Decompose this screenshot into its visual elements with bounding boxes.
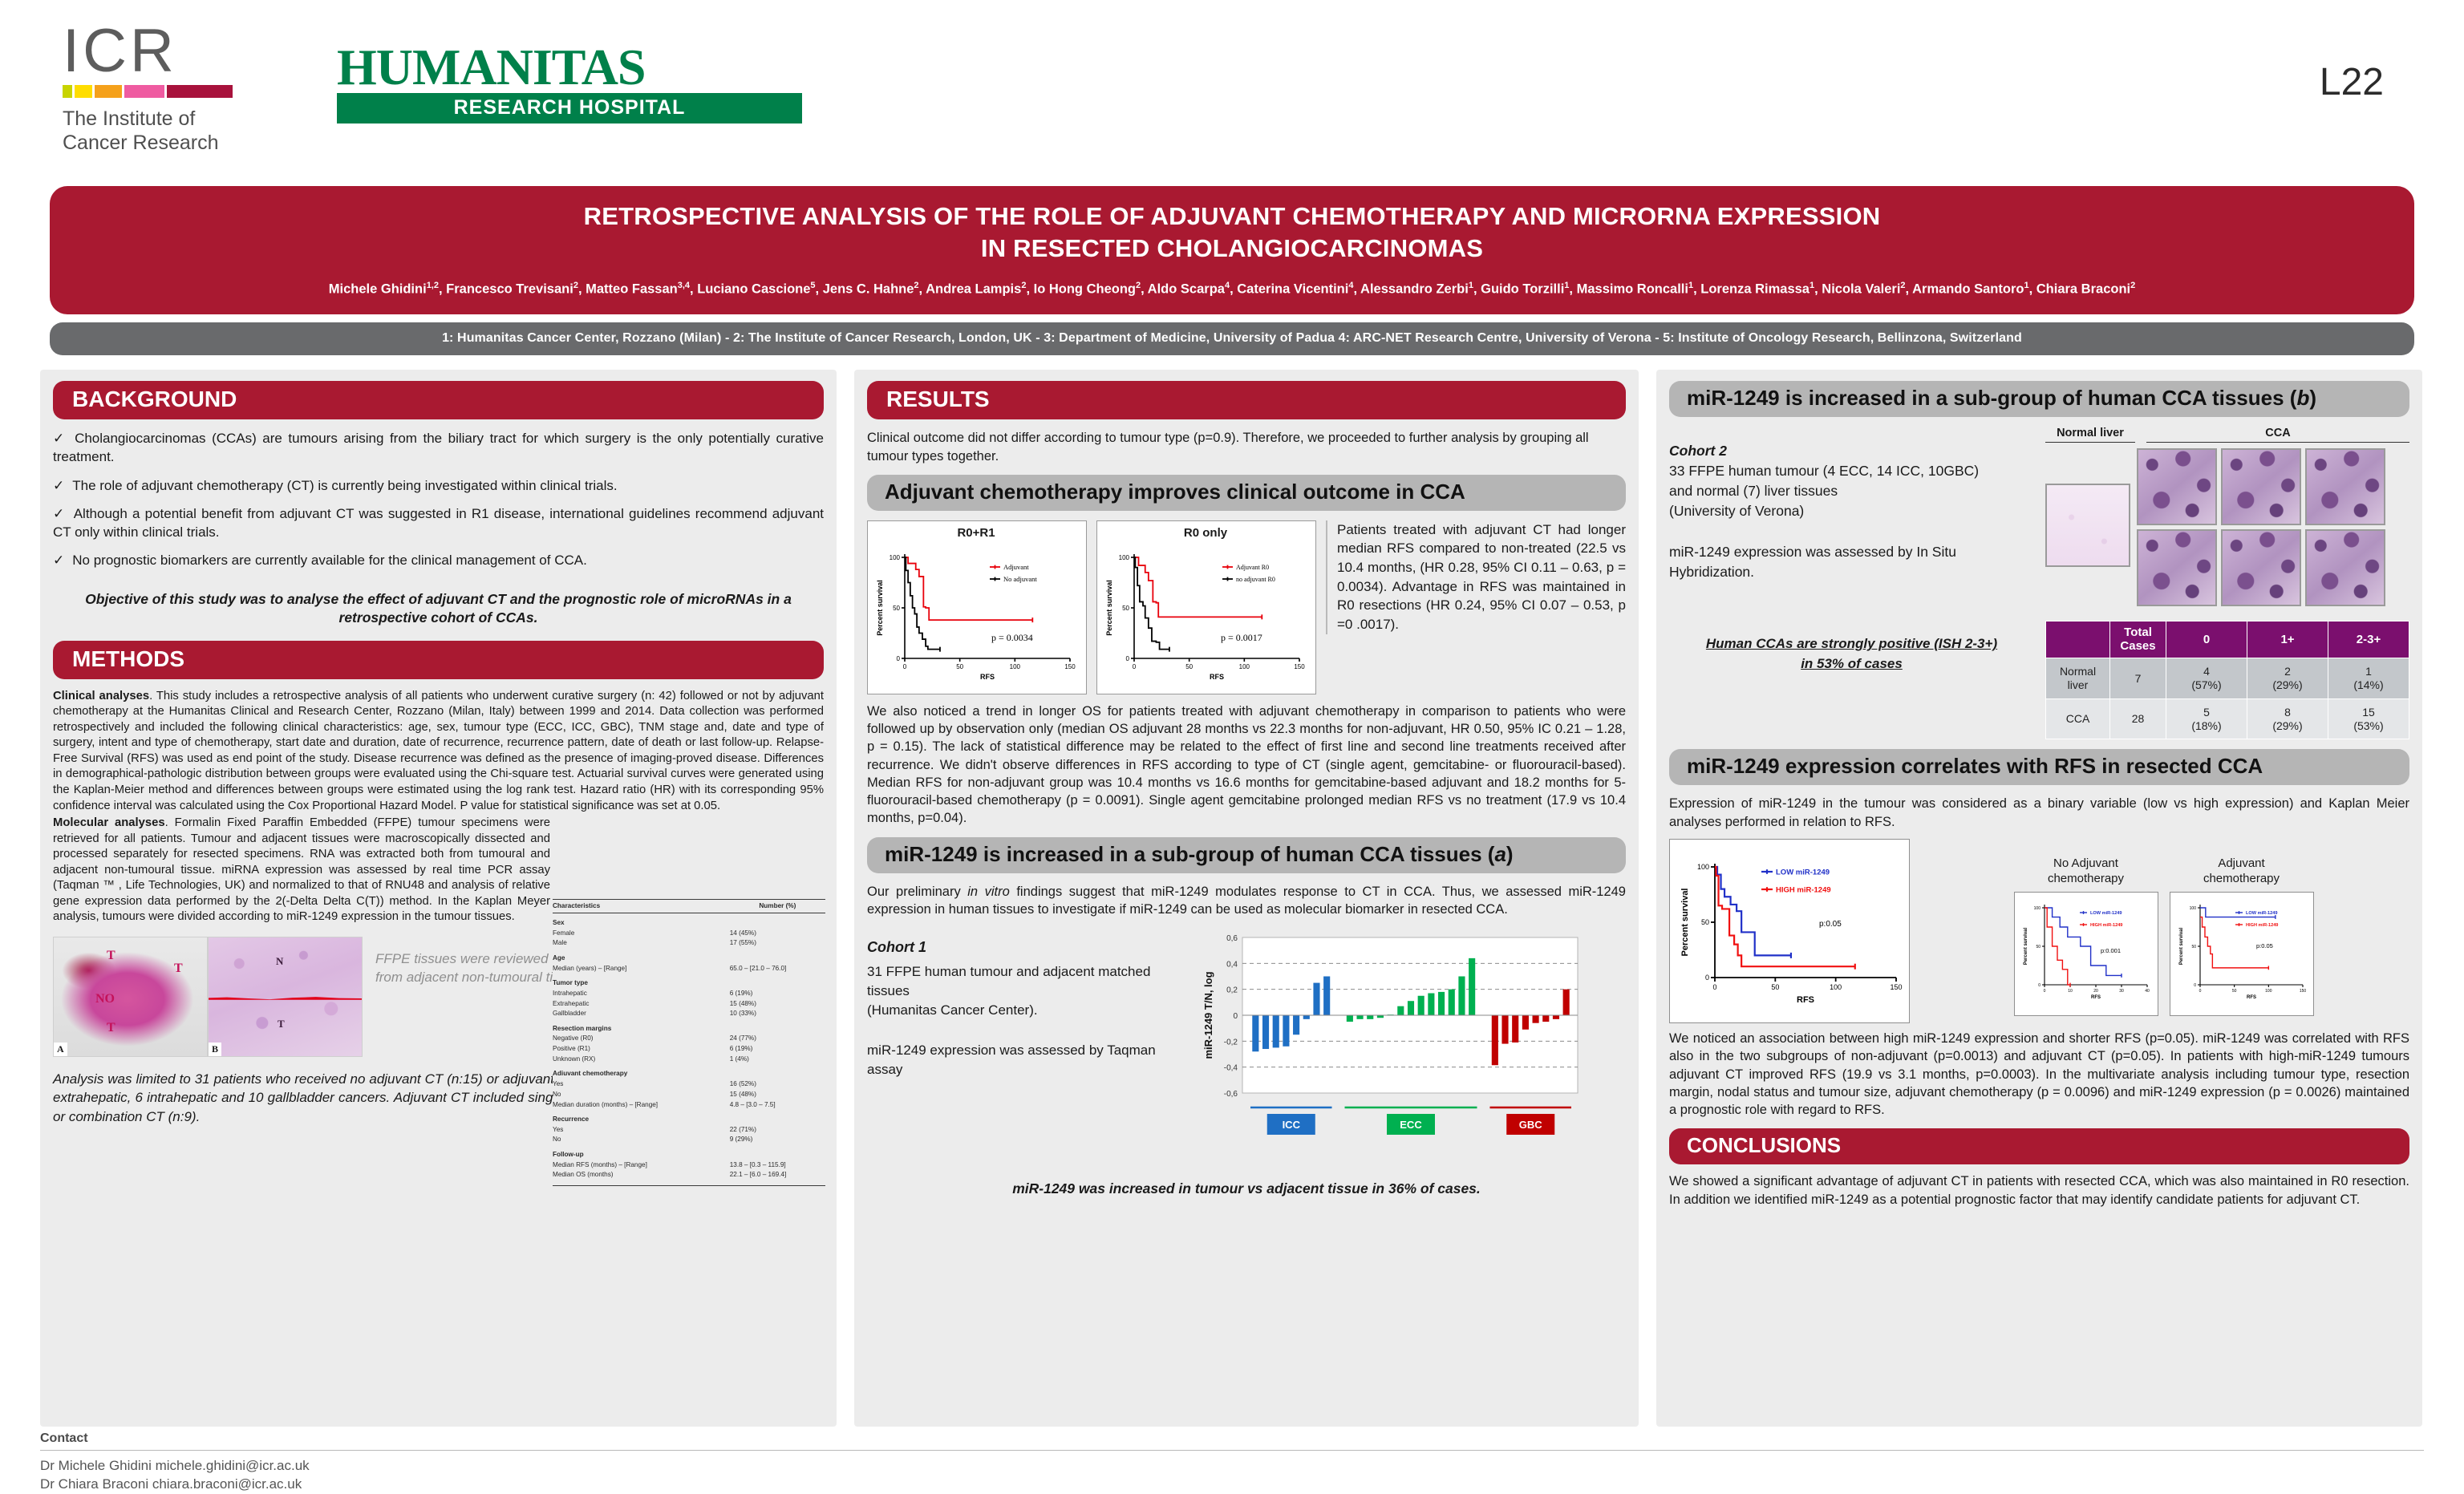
tissue-mark-t2: T [174,962,183,976]
svg-text:50: 50 [2191,944,2196,949]
cell-score-0: 4 (57%) [2166,658,2247,699]
background-bullet-list: ✓Cholangiocarcinomas (CCAs) are tumours … [53,429,824,569]
row-label: Gallbladder [553,1009,727,1019]
objective-statement: Objective of this study was to analyse t… [58,590,819,628]
cell-score-2to3plus-n: 15 [2332,706,2405,719]
svg-text:Percent survival: Percent survival [1105,580,1113,636]
chart-km-mir1249-all-svg: 050100050100150RFSPercent survivalLOW mi… [1673,843,1906,1015]
svg-text:100: 100 [1119,554,1130,561]
row-value: 10 (33%) [727,1009,825,1019]
patient-characteristics-table: Characteristics Number (%) SexFemale14 (… [553,899,825,1186]
cohort2-key-finding-line1: Human CCAs are strongly positive (ISH 2-… [1669,634,2034,654]
methods-body: Clinical analyses. This study includes a… [53,689,824,925]
cohort2-row: Cohort 2 33 FFPE human tumour (4 ECC, 14… [1669,427,2409,739]
table-row: Gallbladder10 (33%) [553,1009,825,1019]
chart-title-r0r1: R0+R1 [871,524,1081,540]
cell-score-1plus-pct: (29%) [2251,678,2324,692]
methods-molecular-text: . Formalin Fixed Paraffin Embedded (FFPE… [53,816,550,923]
check-icon: ✓ [53,553,64,568]
table-column-header-score-1plus: 1+ [2247,621,2328,658]
humanitas-logo-subtitle: RESEARCH HOSPITAL [337,93,802,123]
table-group-header: Age [553,949,825,963]
svg-text:HIGH miR-1249: HIGH miR-1249 [1776,885,1831,894]
tissue-mark-t3: T [107,1021,115,1035]
tissue-photo-macroscopic: T T NO T A [53,937,208,1057]
cohort2-title: Cohort 2 [1669,441,2034,461]
table-row: Yes22 (71%) [553,1124,825,1135]
chart-km-mir1249-all: 050100050100150RFSPercent survivalLOW mi… [1669,839,1910,1023]
ish-image-cca-5 [2221,529,2301,606]
svg-text:150: 150 [1294,663,1305,670]
svg-text:LOW miR-1249: LOW miR-1249 [2090,911,2122,916]
svg-text:30: 30 [2119,989,2124,994]
cell-score-2to3plus-n: 1 [2332,665,2405,678]
svg-text:p:0.05: p:0.05 [1819,920,1842,929]
section-header-methods: METHODS [53,641,824,679]
svg-text:Percent survival: Percent survival [2024,927,2028,965]
mir1249-figure-row: Cohort 1 31 FFPE human tumour and adjace… [867,923,1626,1168]
table-group-header: Adiuvant chemotherapy [553,1064,825,1079]
row-label: Positive (R1) [553,1044,727,1055]
cohort2-description: Cohort 2 33 FFPE human tumour (4 ECC, 14… [1669,427,2034,739]
svg-text:-0,2: -0,2 [1224,1039,1238,1047]
svg-text:Adjuvant: Adjuvant [1003,563,1029,571]
svg-text:Percent survival: Percent survival [1680,889,1690,957]
cohort2-line3: (University of Verona) [1669,501,2034,521]
svg-text:0: 0 [1705,974,1709,982]
cell-score-2to3plus: 1 (14%) [2328,658,2409,699]
row-value: 14 (45%) [727,928,825,938]
table-group-header: Sex [553,913,825,928]
table-group-header: Resection margins [553,1019,825,1034]
cell-score-1plus-pct: (29%) [2251,719,2324,733]
cohort2-line1: 33 FFPE human tumour (4 ECC, 14 ICC, 10G… [1669,461,2034,481]
list-item-text: Although a potential benefit from adjuva… [53,506,824,540]
chart-title-adjuvant: Adjuvant chemotherapy [2170,856,2314,887]
svg-text:-0,4: -0,4 [1224,1064,1238,1073]
svg-text:No adjuvant: No adjuvant [1003,575,1037,583]
tissue-panel-label-b: B [209,1043,221,1056]
cell-total-cases: 28 [2110,698,2166,739]
ish-images [2045,448,2409,606]
results-intro-paragraph: Clinical outcome did not differ accordin… [867,429,1626,465]
cell-score-1plus: 8 (29%) [2247,698,2328,739]
group-label: Age [553,949,727,963]
bar-chart-caption: miR-1249 was increased in tumour vs adja… [867,1180,1626,1197]
table-row: Median duration (months) – [Range]4.8 – … [553,1099,825,1110]
row-label: Median OS (months) [553,1170,727,1180]
list-item-text: No prognostic biomarkers are currently a… [72,553,587,568]
chart-mir1249-bar: -0,6-0,4-0,200,20,40,6miR-1249 T/N, logI… [1196,923,1626,1168]
tissue-label-t: T [278,1018,285,1030]
methods-molecular-paragraph: Molecular analyses. Formalin Fixed Paraf… [53,816,550,925]
cell-score-2to3plus: 15 (53%) [2328,698,2409,739]
row-label: Yes [553,1079,727,1090]
row-value: 24 (77%) [727,1034,825,1044]
table-column-header-characteristics: Characteristics [553,899,727,913]
footer-divider [40,1450,2424,1451]
cohort1-line1: 31 FFPE human tumour and adjacent matche… [867,962,1188,1001]
km-side-commentary: Patients treated with adjuvant CT had lo… [1326,520,1626,634]
subsection-header-mir1249-b-em: b [2296,386,2309,410]
page-title-line1: RETROSPECTIVE ANALYSIS OF THE ROLE OF AD… [82,200,2382,233]
row-value: 1 (4%) [727,1055,825,1065]
icr-logo: ICR The Institute of Cancer Research [63,22,255,155]
svg-text:GBC: GBC [1519,1119,1543,1131]
group-label: Follow-up [553,1145,727,1160]
conclusions-paragraph: We showed a significant advantage of adj… [1669,1172,2409,1209]
group-label: Resection margins [553,1019,727,1034]
row-value: 16 (52%) [727,1079,825,1090]
row-value: 13.8 – [0.3 – 115.9] [727,1160,825,1170]
svg-text:0: 0 [2199,989,2201,994]
list-item-text: Cholangiocarcinomas (CCAs) are tumours a… [53,431,824,464]
tissue-label-n: N [276,955,283,968]
row-label-line2: liver [2049,678,2106,692]
check-icon: ✓ [53,478,64,493]
row-value: 9 (29%) [727,1135,825,1145]
chart-km-r0only: R0 only 050100050100150RFSPercent surviv… [1096,520,1316,694]
row-label: No [553,1089,727,1099]
methods-clinical-text: . This study includes a retrospective an… [53,690,824,812]
row-label: Extrahepatic [553,998,727,1009]
cell-score-0-pct: (57%) [2170,678,2243,692]
table-row: Intrahepatic6 (19%) [553,988,825,998]
cell-score-1plus-n: 2 [2251,665,2324,678]
results-paragraph-os: We also noticed a trend in longer OS for… [867,702,1626,828]
row-value: 6 (19%) [727,988,825,998]
row-label-line1: Normal [2049,665,2106,678]
svg-text:100: 100 [2033,905,2040,910]
cell-score-2to3plus-pct: (53%) [2332,719,2405,733]
cohort1-line2: (Humanitas Cancer Center). [867,1001,1188,1020]
svg-text:100: 100 [1697,863,1709,871]
row-value: 6 (19%) [727,1044,825,1055]
table-row: No9 (29%) [553,1135,825,1145]
methods-clinical-paragraph: Clinical analyses. This study includes a… [53,689,824,814]
svg-text:p = 0.0034: p = 0.0034 [991,632,1033,643]
author-list: Michele Ghidini1,2, Francesco Trevisani2… [82,280,2382,298]
svg-text:HIGH miR-1249: HIGH miR-1249 [2246,923,2278,928]
column-right: miR-1249 is increased in a sub-group of … [1656,370,2422,1427]
section-header-background: BACKGROUND [53,381,824,419]
chart-km-adjuvant: 050100050100150RFSPercent survivalLOW mi… [2170,892,2314,1016]
table-row: Female14 (45%) [553,928,825,938]
subsection-header-rfs-correlation: miR-1249 expression correlates with RFS … [1669,749,2409,785]
svg-text:100: 100 [1010,663,1021,670]
header-total-line1: Total [2113,626,2162,640]
chart-title-r0only: R0 only [1100,524,1311,540]
icr-logo-color-bars [63,85,235,98]
subsection-header-mir1249-a-pre: miR-1249 is increased in a sub-group of … [885,842,1494,866]
humanitas-logo: HUMANITAS RESEARCH HOSPITAL [337,44,802,123]
table-column-header-score-2to3plus: 2-3+ [2328,621,2409,658]
cohort2-line2: and normal (7) liver tissues [1669,481,2034,501]
subsection-header-mir1249-a-em: a [1494,842,1506,866]
svg-text:0: 0 [2194,982,2196,987]
tissue-photo-histology: N T B [208,937,363,1057]
svg-text:Percent survival: Percent survival [2179,927,2184,965]
section-header-conclusions: CONCLUSIONS [1669,1128,2409,1164]
table-row: CCA 28 5 (18%) 8 (29%) 15 [2046,698,2409,739]
svg-text:ECC: ECC [1400,1119,1422,1131]
page-title: RETROSPECTIVE ANALYSIS OF THE ROLE OF AD… [82,200,2382,264]
svg-text:0: 0 [2043,989,2045,994]
chart-title-no-adjuvant: No Adjuvant chemotherapy [2014,856,2158,887]
table-row: Median (years) – [Range]65.0 – [21.0 – 7… [553,963,825,974]
group-label: Adiuvant chemotherapy [553,1064,727,1079]
ish-header-normal-liver: Normal liver [2045,427,2135,443]
svg-text:20: 20 [2093,989,2098,994]
poster-header: ICR The Institute of Cancer Research HUM… [0,0,2464,186]
ish-header-cca: CCA [2146,427,2409,443]
rfs-results-paragraph: We noticed an association between high m… [1669,1030,2409,1119]
column-middle: RESULTS Clinical outcome did not differ … [854,370,1639,1427]
cell-score-2to3plus-pct: (14%) [2332,678,2405,692]
ish-image-cca-4 [2137,529,2217,606]
page-title-line2: IN RESECTED CHOLANGIOCARCINOMAS [82,233,2382,265]
table-row: Positive (R1)6 (19%) [553,1044,825,1055]
table-column-header-score-0: 0 [2166,621,2247,658]
svg-text:50: 50 [1122,605,1129,612]
svg-text:0: 0 [1712,983,1716,991]
svg-text:miR-1249 T/N, log: miR-1249 T/N, log [1202,972,1214,1059]
table-row: Median OS (months)22.1 – [6.0 – 169.4] [553,1170,825,1180]
icr-logo-letters: ICR [63,22,255,80]
svg-text:50: 50 [1185,663,1193,670]
tissue-mark-no: NO [95,992,115,1006]
table-row: Extrahepatic15 (48%) [553,998,825,1009]
km-rfs-charts-row: 050100050100150RFSPercent survivalLOW mi… [1669,839,2409,1023]
svg-text:HIGH miR-1249: HIGH miR-1249 [2090,923,2122,928]
ish-scoring-table: Total Cases 0 1+ 2-3+ Normal liv [2045,621,2409,739]
row-value: 15 (48%) [727,998,825,1009]
table-column-header-total-cases: Total Cases [2110,621,2166,658]
svg-text:100: 100 [2265,989,2272,994]
row-label: Female [553,928,727,938]
svg-text:RFS: RFS [2247,995,2256,1000]
cell-score-0-n: 5 [2170,706,2243,719]
cell-score-0-n: 4 [2170,665,2243,678]
table-group-header: Follow-up [553,1145,825,1160]
table-column-header-number: Number (%) [727,899,825,913]
km-charts-row: R0+R1 050100050100150RFSPercent survival… [867,520,1626,694]
svg-text:100: 100 [2189,905,2196,910]
cell-score-1plus: 2 (29%) [2247,658,2328,699]
ish-image-cca-3 [2305,448,2385,525]
table-row: No15 (48%) [553,1089,825,1099]
ish-image-cca-1 [2137,448,2217,525]
title-banner: RETROSPECTIVE ANALYSIS OF THE ROLE OF AD… [50,186,2414,314]
chart-title-adjuvant-line2: chemotherapy [2170,872,2314,887]
ish-header-gap [2135,427,2146,443]
chart-km-r0r1-svg: 050100050100150RFSPercent survivalAdjuva… [871,540,1081,692]
svg-text:50: 50 [2231,989,2236,994]
list-item: ✓No prognostic biomarkers are currently … [53,551,824,569]
cohort1-assay: miR-1249 expression was assessed by Taqm… [867,1041,1188,1079]
row-label: No [553,1135,727,1145]
cell-score-0-pct: (18%) [2170,719,2243,733]
svg-text:0: 0 [1233,1012,1238,1021]
check-icon: ✓ [53,506,66,521]
row-value: 65.0 – [21.0 – 76.0] [727,963,825,974]
chart-km-r0only-svg: 050100050100150RFSPercent survivalAdjuva… [1100,540,1311,692]
cell-score-1plus-n: 8 [2251,706,2324,719]
row-value: 4.8 – [3.0 – 7.5] [727,1099,825,1110]
svg-text:ICC: ICC [1283,1119,1301,1131]
svg-text:0: 0 [2038,982,2040,987]
row-label: Median RFS (months) – [Range] [553,1160,727,1170]
ish-figure-headers: Normal liver CCA [2045,427,2409,443]
subsection-header-mir1249-b-post: ) [2309,386,2316,410]
svg-text:RFS: RFS [2091,995,2101,1000]
ffpe-images: T T NO T A N T B [53,937,363,1057]
cohort2-key-finding-line2: in 53% of cases [1669,654,2034,674]
svg-text:p:0.05: p:0.05 [2256,942,2273,949]
group-label: Tumor type [553,974,727,988]
chart-km-no-adjuvant-svg: 050100010203040RFSPercent survivalLOW mi… [2017,895,2155,1009]
tissue-mark-t1: T [107,949,115,963]
table-row: Yes16 (52%) [553,1079,825,1090]
chart-km-no-adjuvant: 050100010203040RFSPercent survivalLOW mi… [2014,892,2158,1016]
row-value: 17 (55%) [727,938,825,949]
cohort1-description: Cohort 1 31 FFPE human tumour and adjace… [867,923,1188,1168]
chart-km-no-adjuvant-col: No Adjuvant chemotherapy 050100010203040… [2014,856,2158,1016]
chart-km-adjuvant-svg: 050100050100150RFSPercent survivalLOW mi… [2173,895,2311,1009]
svg-text:0: 0 [903,663,907,670]
icr-logo-subtitle: The Institute of Cancer Research [63,107,255,155]
poster-code-label: L22 [2320,60,2384,104]
row-value: 15 (48%) [727,1089,825,1099]
subsection-header-adjuvant-outcome: Adjuvant chemotherapy improves clinical … [867,475,1626,511]
methods-clinical-label: Clinical analyses [53,690,149,702]
table-group-header: Tumor type [553,974,825,988]
tumour-boundary-line [209,997,362,1000]
list-item: ✓The role of adjuvant chemotherapy (CT) … [53,476,824,495]
table-bottom-rule [553,1180,825,1186]
cell-score-0: 5 (18%) [2166,698,2247,739]
svg-text:0: 0 [897,655,901,662]
svg-text:no adjuvant R0: no adjuvant R0 [1236,576,1275,583]
ish-image-grid-cca [2137,448,2385,606]
poster-columns: BACKGROUND ✓Cholangiocarcinomas (CCAs) a… [40,370,2424,1427]
row-label-cca: CCA [2046,698,2110,739]
subsection-header-mir1249-b: miR-1249 is increased in a sub-group of … [1669,381,2409,417]
table-group-header: Recurrence [553,1110,825,1124]
list-item: ✓Cholangiocarcinomas (CCAs) are tumours … [53,429,824,466]
svg-text:50: 50 [893,605,900,612]
list-item-text: The role of adjuvant chemotherapy (CT) i… [72,478,617,493]
icr-logo-subtitle-line2: Cancer Research [63,131,255,155]
svg-text:p = 0.0017: p = 0.0017 [1221,632,1262,643]
tissue-panel-label-a: A [54,1043,67,1056]
table-row: Unknown (RX)1 (4%) [553,1055,825,1065]
row-label: Median (years) – [Range] [553,963,727,974]
ish-image-cca-6 [2305,529,2385,606]
humanitas-logo-word: HUMANITAS [337,44,802,91]
table-column-header-blank [2046,621,2110,658]
row-label: Yes [553,1124,727,1135]
svg-text:0,6: 0,6 [1226,934,1238,943]
chart-title-no-adjuvant-line2: chemotherapy [2014,872,2158,887]
subsection-header-mir1249-a: miR-1249 is increased in a sub-group of … [867,837,1626,873]
subsection-header-mir1249-a-post: ) [1506,842,1514,866]
chart-mir1249-bar-svg: -0,6-0,4-0,200,20,40,6miR-1249 T/N, logI… [1196,923,1597,1164]
contact-line-2: Dr Chiara Braconi chiara.braconi@icr.ac.… [40,1476,2424,1494]
svg-text:Adjuvant R0: Adjuvant R0 [1236,564,1269,571]
table-row: Negative (R0)24 (77%) [553,1034,825,1044]
ish-figure-panel: Normal liver CCA [2045,427,2409,739]
svg-text:RFS: RFS [1797,995,1814,1005]
contact-footer: Contact Dr Michele Ghidini michele.ghidi… [40,1431,2424,1494]
svg-text:100: 100 [1830,983,1842,991]
chart-km-adjuvant-col: Adjuvant chemotherapy 050100050100150RFS… [2170,856,2314,1016]
rfs-intro-paragraph: Expression of miR-1249 in the tumour was… [1669,795,2409,831]
icr-logo-subtitle-line1: The Institute of [63,107,255,131]
svg-text:50: 50 [1701,918,1709,926]
table-row: Male17 (55%) [553,938,825,949]
section-header-results: RESULTS [867,381,1626,419]
row-value: 22 (71%) [727,1124,825,1135]
header-total-line2: Cases [2113,640,2162,654]
svg-text:Percent survival: Percent survival [876,580,884,636]
methods-molecular-label: Molecular analyses [53,816,165,829]
row-label: Median duration (months) – [Range] [553,1099,727,1110]
km-subgroup-charts: No Adjuvant chemotherapy 050100010203040… [1918,839,2409,1016]
svg-text:100: 100 [1239,663,1250,670]
svg-text:0,2: 0,2 [1226,986,1238,995]
ish-image-normal-liver [2045,484,2130,567]
chart-title-adjuvant-line1: Adjuvant [2170,856,2314,872]
svg-text:50: 50 [2036,944,2040,949]
column-left: BACKGROUND ✓Cholangiocarcinomas (CCAs) a… [40,370,837,1427]
group-label: Sex [553,913,727,928]
svg-text:RFS: RFS [1210,673,1224,681]
cohort2-key-finding: Human CCAs are strongly positive (ISH 2-… [1669,634,2034,674]
svg-text:LOW miR-1249: LOW miR-1249 [2246,911,2277,916]
svg-text:-0,6: -0,6 [1224,1090,1238,1099]
svg-text:100: 100 [890,554,901,561]
row-label: Unknown (RX) [553,1055,727,1065]
cohort2-assay: miR-1249 expression was assessed by In S… [1669,542,2034,582]
svg-text:0: 0 [1126,655,1130,662]
row-value: 22.1 – [6.0 – 169.4] [727,1170,825,1180]
chart-km-r0r1: R0+R1 050100050100150RFSPercent survival… [867,520,1087,694]
cohort1-title: Cohort 1 [867,937,1188,958]
svg-text:p:0.001: p:0.001 [2101,947,2121,954]
affiliations-bar: 1: Humanitas Cancer Center, Rozzano (Mil… [50,322,2414,355]
contact-line-1: Dr Michele Ghidini michele.ghidini@icr.a… [40,1457,2424,1476]
list-item: ✓Although a potential benefit from adjuv… [53,504,824,541]
table-row: Median RFS (months) – [Range]13.8 – [0.3… [553,1160,825,1170]
cell-total-cases: 7 [2110,658,2166,699]
svg-text:150: 150 [1064,663,1076,670]
row-label: Male [553,938,727,949]
group-label: Recurrence [553,1110,727,1124]
svg-text:10: 10 [2068,989,2073,994]
subsection-header-mir1249-b-pre: miR-1249 is increased in a sub-group of … [1687,386,2296,410]
svg-text:50: 50 [956,663,963,670]
chart-title-no-adjuvant-line1: No Adjuvant [2014,856,2158,872]
svg-text:50: 50 [1771,983,1779,991]
row-label: Intrahepatic [553,988,727,998]
ish-image-cca-2 [2221,448,2301,525]
svg-text:0,4: 0,4 [1226,961,1238,970]
row-label: Negative (R0) [553,1034,727,1044]
contact-label: Contact [40,1431,2424,1446]
svg-text:150: 150 [1890,983,1902,991]
results-paragraph-invitro: Our preliminary in vitro findings sugges… [867,883,1626,919]
